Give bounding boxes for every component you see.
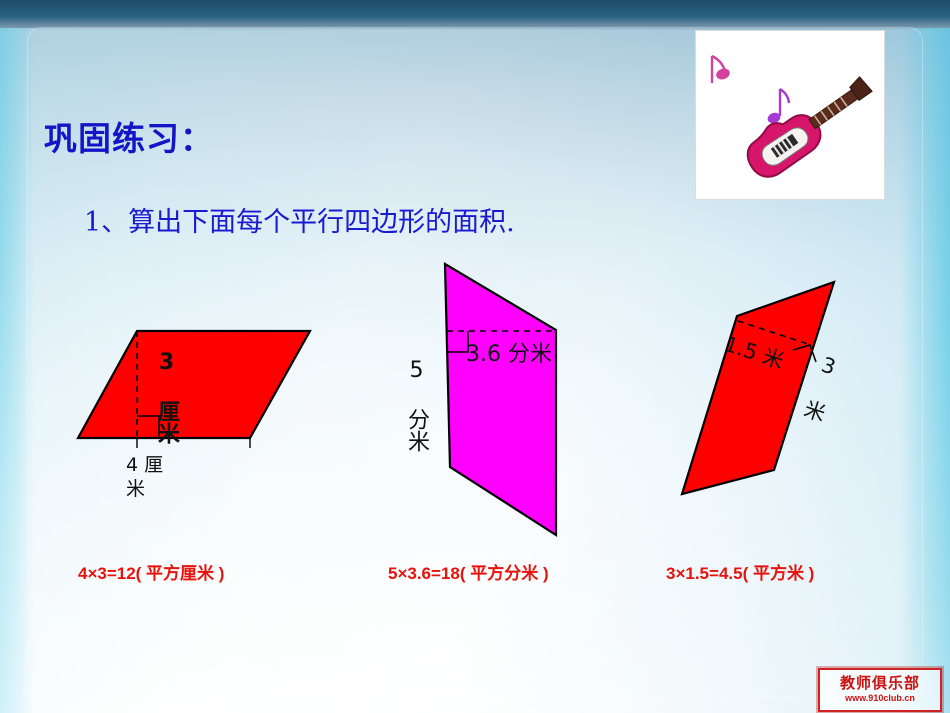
parallelogram-2 (445, 264, 556, 535)
parallelogram-2-height-label: 3.6 分米 (466, 336, 552, 368)
watermark-url: www.910club.cn (845, 693, 915, 705)
parallelogram-1-base-label-line2: 米 (126, 474, 145, 501)
watermark-badge: 教师俱乐部 www.910club.cn (818, 668, 942, 712)
parallelogram-2-side-label: 5 分米 (400, 358, 432, 452)
slide-canvas: 巩固练习： 1、算出下面每个平行四边形的面积. (0, 0, 950, 713)
answer-formula-2: 5×3.6=18( 平方分米 ) (388, 559, 549, 584)
parallelogram-2-shape (445, 264, 556, 535)
answer-formula-1: 4×3=12( 平方厘米 ) (78, 559, 224, 584)
watermark-title: 教师俱乐部 (840, 676, 920, 691)
parallelogram-1-base-label-line1: 4 厘 (126, 450, 163, 477)
parallelogram-1-height-label: 3 厘米 (150, 350, 182, 444)
parallelogram-1 (78, 331, 310, 448)
answer-formula-3: 3×1.5=4.5( 平方米 ) (666, 559, 814, 584)
parallelogram-1-shape (78, 331, 310, 438)
